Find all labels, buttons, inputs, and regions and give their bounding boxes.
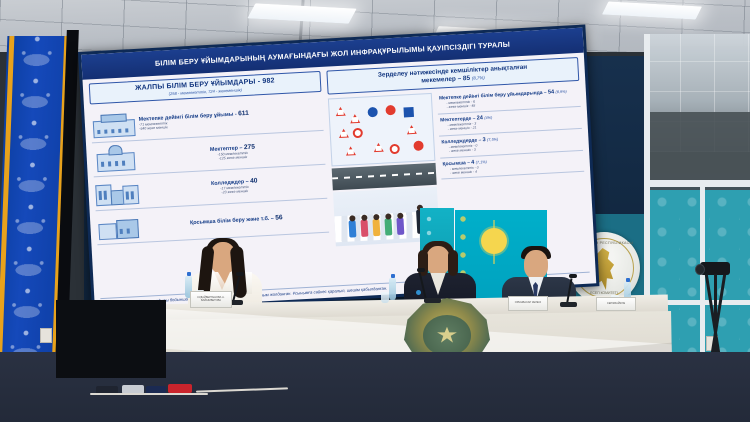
row-value: 54 (548, 89, 555, 95)
row-text: Колледждер – 40 -17 мемлекеттік -23 жеке… (142, 173, 327, 199)
screenshot-root: ҚАЗАҚСТАН РЕСПУБЛИКАСЫ ЕСЕП КОМИТЕТІ БІЛ… (0, 0, 750, 422)
nameplate: КУДАЙБЕРГЕНОВА А. БАЙЫМБЕТОВА (190, 291, 232, 308)
camera-lens-icon (695, 264, 705, 275)
microphone-base (560, 302, 577, 307)
hair (448, 250, 458, 276)
row-text: Мектепке дейінгі білім беру ұйымы - 611 … (139, 105, 324, 131)
right-panel-heading-pct: (8,7%) (472, 75, 485, 81)
row-label: Қосымша білім беру және т.б. (190, 216, 270, 226)
college-building-icon (94, 179, 139, 205)
window-mullion (700, 186, 705, 380)
water-bottle (389, 278, 396, 300)
microphone-head-icon (417, 268, 425, 272)
school-building-icon (92, 145, 137, 171)
row-pct: (4%) (484, 116, 492, 120)
nameplate: СЕРІКБАЙҰЛЫ (596, 297, 636, 311)
lapel-pin-icon (416, 290, 421, 295)
power-strip (168, 384, 192, 393)
window-mullion (644, 180, 750, 187)
row-pct: (7,1%) (476, 160, 487, 165)
power-cable (90, 393, 208, 395)
dark-curtain (56, 300, 166, 378)
wall-socket (40, 328, 52, 343)
preschool-building-icon (90, 112, 135, 138)
microphone-head-icon (236, 272, 244, 276)
microphone-base (424, 298, 441, 303)
drinking-glass (381, 292, 389, 303)
face (524, 250, 548, 279)
road-signs-illustration (328, 93, 436, 167)
glass-dark-reflection (650, 112, 750, 180)
row-pct: (8,9%) (555, 90, 566, 95)
microphone-head-icon (569, 274, 577, 278)
row-value: 275 (244, 143, 255, 151)
row-value: 24 (477, 115, 484, 121)
row-text: Мектептер – 275 -150 мемлекеттік -125 же… (140, 139, 325, 165)
face (426, 246, 450, 275)
crosswalk-illustration (332, 163, 437, 191)
row-value: 40 (250, 177, 258, 184)
left-panel-rows: Мектепке дейінгі білім беру ұйымы - 611 … (90, 97, 329, 245)
row-value: 56 (275, 214, 283, 221)
right-panel-heading2: мекемелер – 85 (421, 75, 470, 85)
row-value: 4 (471, 159, 474, 165)
row-text: Қосымша білім беру және т.б. – 56 (144, 212, 328, 229)
extra-education-building-icon (96, 213, 141, 239)
row-pct: (7,5%) (487, 137, 498, 142)
nameplate: ОРЫНБАСАР КЕЛЕСІ (508, 296, 548, 311)
row-value: 611 (238, 109, 249, 117)
row-value: 3 (482, 137, 485, 143)
